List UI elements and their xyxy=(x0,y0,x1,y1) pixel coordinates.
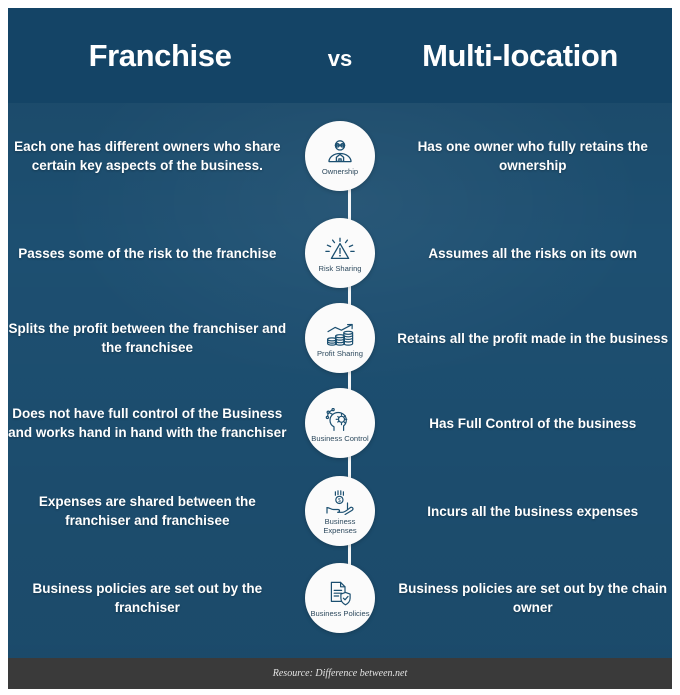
table-row: Business policies are set out by the fra… xyxy=(8,560,672,636)
table-row: Each one has different owners who share … xyxy=(8,111,672,201)
resource-credit: Resource: Difference between.net xyxy=(273,668,407,679)
table-row: Expenses are shared between the franchis… xyxy=(8,473,672,549)
business-control-icon xyxy=(325,404,355,432)
node-label: Risk Sharing xyxy=(318,264,361,273)
header-title-left: Franchise xyxy=(15,38,305,74)
risk-sharing-icon xyxy=(324,234,356,262)
header-vs-label: vs xyxy=(305,46,375,72)
infographic-canvas: Franchise vs Multi-location Each one has… xyxy=(8,8,672,689)
node-label: Business Expenses xyxy=(309,517,371,535)
node-label: Ownership xyxy=(322,167,358,176)
business-expenses-icon: $ xyxy=(325,487,355,515)
row-left-text: Splits the profit between the franchiser… xyxy=(8,319,291,357)
svg-text:$: $ xyxy=(338,498,341,504)
row-right-text: Has Full Control of the business xyxy=(389,414,672,433)
node-ownership[interactable]: Ownership xyxy=(305,121,375,191)
node-risk-sharing[interactable]: Risk Sharing xyxy=(305,218,375,288)
business-policies-icon xyxy=(326,579,354,607)
node-label: Profit Sharing xyxy=(317,349,363,358)
node-business-expenses[interactable]: $ xyxy=(305,476,375,546)
row-left-text: Does not have full control of the Busine… xyxy=(8,404,291,442)
row-left-text: Each one has different owners who share … xyxy=(8,137,291,175)
node-business-policies[interactable]: Business Policies xyxy=(305,563,375,633)
row-left-text: Business policies are set out by the fra… xyxy=(8,579,291,617)
node-profit-sharing[interactable]: Profit Sharing xyxy=(305,303,375,373)
table-row: Passes some of the risk to the franchise xyxy=(8,215,672,291)
row-left-text: Expenses are shared between the franchis… xyxy=(8,492,291,530)
table-row: Splits the profit between the franchiser… xyxy=(8,300,672,376)
row-right-text: Business policies are set out by the cha… xyxy=(389,579,672,617)
ownership-icon xyxy=(325,137,355,165)
infographic-page: Franchise vs Multi-location Each one has… xyxy=(0,0,680,695)
table-row: Does not have full control of the Busine… xyxy=(8,385,672,461)
header-titles: Franchise vs Multi-location xyxy=(8,38,672,74)
header-bar: Franchise vs Multi-location xyxy=(8,8,672,103)
row-right-text: Assumes all the risks on its own xyxy=(389,244,672,263)
node-label: Business Policies xyxy=(310,609,369,618)
row-right-text: Incurs all the business expenses xyxy=(389,502,672,521)
node-label: Business Control xyxy=(311,434,368,443)
footer-bar: Resource: Difference between.net xyxy=(8,658,672,689)
profit-sharing-icon xyxy=(324,319,356,347)
row-left-text: Passes some of the risk to the franchise xyxy=(8,244,291,263)
node-business-control[interactable]: Business Control xyxy=(305,388,375,458)
header-title-right: Multi-location xyxy=(375,38,665,74)
row-right-text: Has one owner who fully retains the owne… xyxy=(389,137,672,175)
comparison-rows: Each one has different owners who share … xyxy=(8,103,672,658)
row-right-text: Retains all the profit made in the busin… xyxy=(389,329,672,348)
